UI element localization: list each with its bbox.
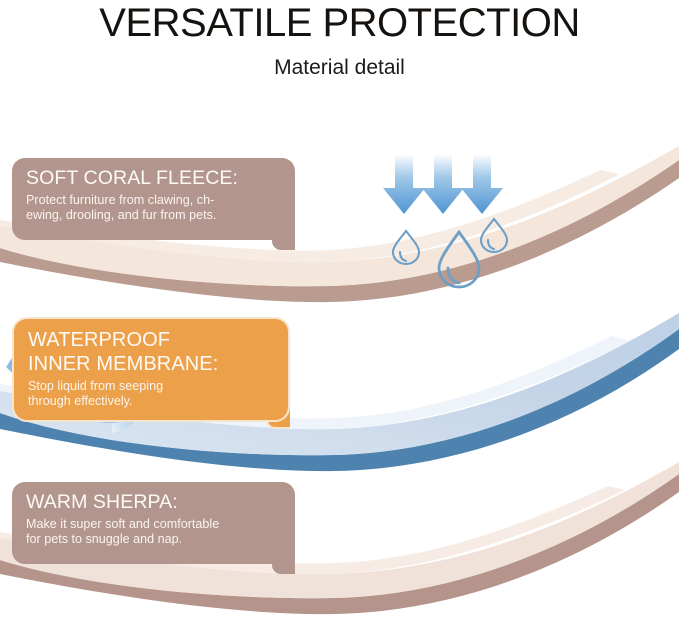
callout-body: Stop liquid from seeping through effecti… <box>28 376 274 410</box>
callout-soft-coral-fleece[interactable]: SOFT CORAL FLEECE: Protect furniture fro… <box>12 158 295 240</box>
callout-warm-sherpa[interactable]: WARM SHERPA: Make it super soft and comf… <box>12 482 295 564</box>
infographic-canvas: VERSATILE PROTECTION Material detail <box>0 0 679 624</box>
callout-headline: WARM SHERPA: <box>26 491 281 514</box>
callout-headline: SOFT CORAL FLEECE: <box>26 167 281 190</box>
callout-body: Protect furniture from clawing, ch- ewin… <box>26 190 281 224</box>
section-soft-coral-fleece: SOFT CORAL FLEECE: Protect furniture fro… <box>0 140 679 310</box>
down-arrow-icon-group <box>383 154 503 214</box>
callout-waterproof-inner-membrane[interactable]: WATERPROOF INNER MEMBRANE: Stop liquid f… <box>12 317 290 422</box>
page-subtitle: Material detail <box>0 44 679 80</box>
header: VERSATILE PROTECTION Material detail <box>0 0 679 80</box>
callout-headline: WATERPROOF INNER MEMBRANE: <box>28 328 274 376</box>
section-warm-sherpa: WARM SHERPA: Make it super soft and comf… <box>0 462 679 624</box>
callout-body: Make it super soft and comfortable for p… <box>26 514 281 548</box>
page-title: VERSATILE PROTECTION <box>0 0 679 44</box>
section-waterproof-inner-membrane: WATERPROOF INNER MEMBRANE: Stop liquid f… <box>0 305 679 475</box>
